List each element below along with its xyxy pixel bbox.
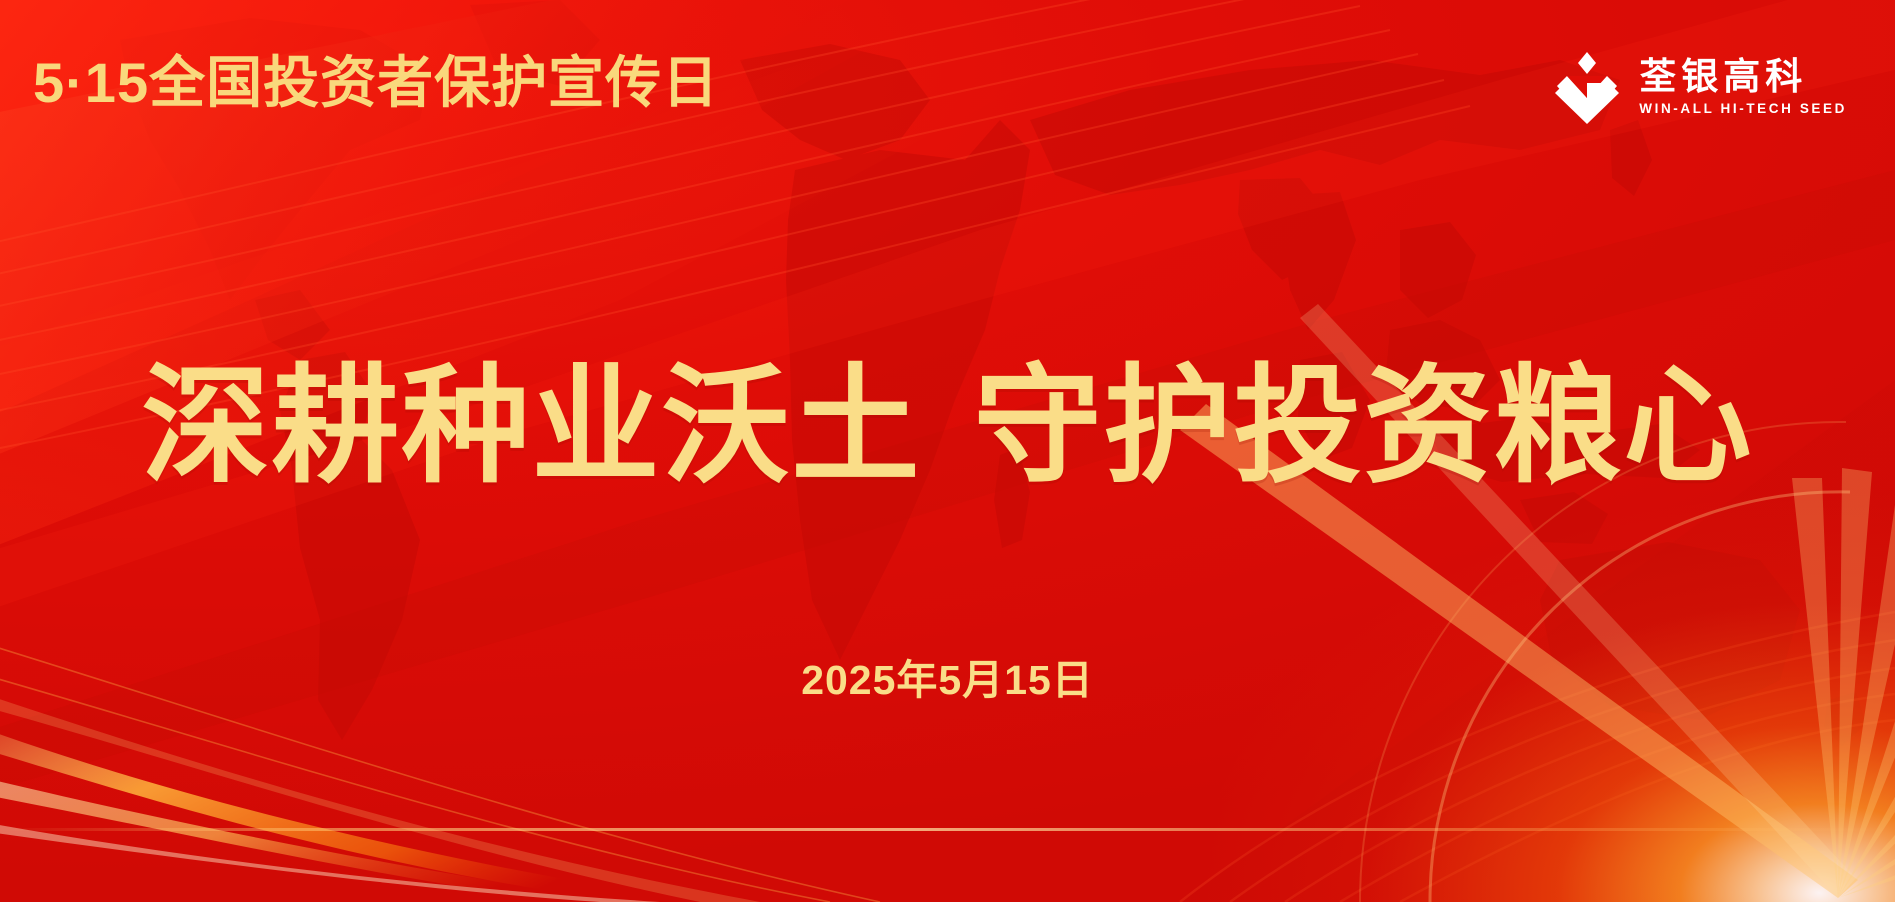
banner-content: 5·15全国投资者保护宣传日 荃银高科 WIN-ALL HI-TECH SEED… — [0, 0, 1895, 902]
campaign-kicker: 5·15全国投资者保护宣传日 — [33, 52, 719, 114]
main-headline: 深耕种业沃土守护投资粮心 — [0, 352, 1895, 502]
double-chevron-seed-mark-icon — [1551, 50, 1623, 124]
event-date: 2025年5月15日 — [0, 655, 1895, 705]
headline-phrase-1: 深耕种业沃土 — [141, 355, 921, 498]
logo-english-name: WIN-ALL HI-TECH SEED — [1639, 100, 1847, 117]
logo-chinese-name: 荃银高科 — [1639, 57, 1847, 97]
company-logo: 荃银高科 WIN-ALL HI-TECH SEED — [1551, 50, 1847, 124]
banner-canvas: 5·15全国投资者保护宣传日 荃银高科 WIN-ALL HI-TECH SEED… — [0, 0, 1895, 902]
logo-text-block: 荃银高科 WIN-ALL HI-TECH SEED — [1639, 57, 1847, 117]
headline-phrase-2: 守护投资粮心 — [974, 355, 1754, 498]
